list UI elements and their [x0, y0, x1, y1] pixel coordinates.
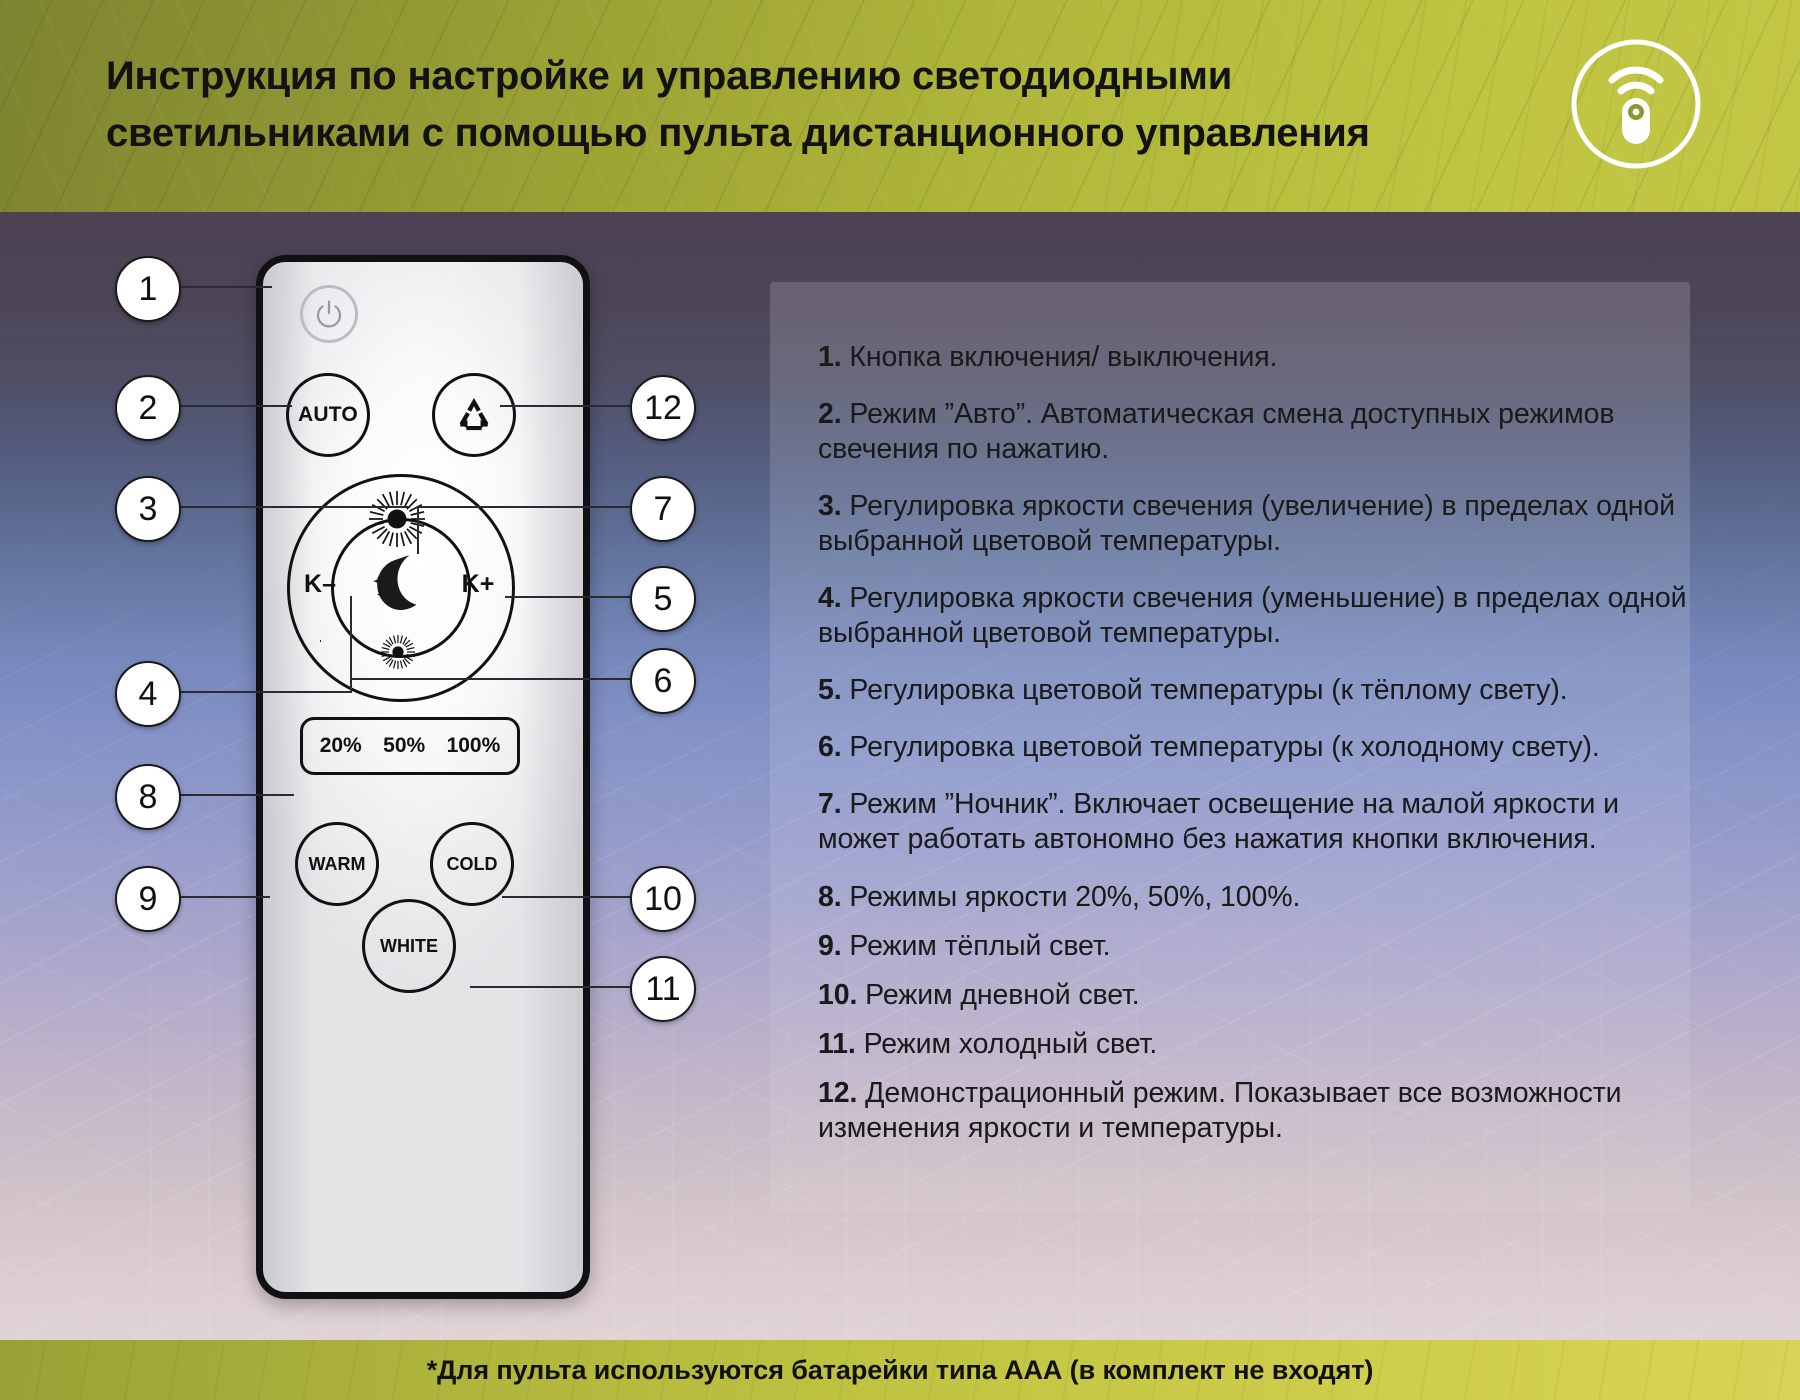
leader-line-7-vert	[417, 506, 419, 554]
recycle-loop-icon	[449, 390, 499, 440]
legend-item-5: 5. Регулировка цветовой температуры (к т…	[818, 673, 1693, 708]
callout-3[interactable]: 3	[115, 476, 181, 542]
legend-num-1: 1.	[818, 341, 842, 373]
legend-item-11: 11. Режим холодный свет.	[818, 1027, 1693, 1062]
callout-5-label: 5	[654, 580, 673, 619]
legend-item-8: 8. Режимы яркости 20%, 50%, 100%.	[818, 880, 1693, 915]
legend-num-9: 9.	[818, 930, 842, 962]
callout-1[interactable]: 1	[115, 256, 181, 322]
leader-line-12	[500, 405, 630, 407]
callout-9-label: 9	[139, 880, 158, 919]
callout-4[interactable]: 4	[115, 661, 181, 727]
brightness-down-button[interactable]	[378, 632, 418, 672]
sun-small-icon	[378, 632, 418, 672]
callout-12[interactable]: 12	[630, 375, 696, 441]
brightness-preset-50[interactable]: 50%	[383, 734, 425, 758]
callout-12-label: 12	[644, 389, 682, 428]
legend-item-6: 6. Регулировка цветовой температуры (к х…	[818, 730, 1693, 765]
page-header: Инструкция по настройке и управлению све…	[0, 0, 1800, 212]
legend-text-1: Кнопка включения/ выключения.	[849, 341, 1277, 373]
page-footer: *Для пульта используются батарейки типа …	[0, 1340, 1800, 1400]
legend-text-2: Режим ”Авто”. Автоматическая смена досту…	[818, 398, 1614, 465]
legend-text-3: Регулировка яркости свечения (увеличение…	[818, 490, 1675, 557]
legend-num-12: 12.	[818, 1077, 857, 1109]
callout-6[interactable]: 6	[630, 648, 696, 714]
kelvin-minus-label: K–	[304, 570, 336, 599]
callout-7[interactable]: 7	[630, 476, 696, 542]
night-mode-button[interactable]	[361, 544, 437, 620]
legend-num-7: 7.	[818, 788, 842, 820]
cold-light-button[interactable]: COLD	[430, 822, 514, 906]
legend-text-8: Режимы яркости 20%, 50%, 100%.	[849, 881, 1300, 913]
auto-button-label: AUTO	[298, 403, 358, 427]
kelvin-plus-label: K+	[462, 570, 495, 599]
remote-control-signal-icon	[1568, 36, 1704, 172]
legend-text-11: Режим холодный свет.	[864, 1028, 1158, 1060]
legend-text-12: Демонстрационный режим. Показывает все в…	[818, 1077, 1622, 1144]
auto-mode-button[interactable]: AUTO	[286, 373, 370, 457]
remote-control-body: AUTO	[256, 255, 590, 1299]
legend-item-7: 7. Режим ”Ночник”. Включает освещение на…	[818, 787, 1693, 857]
leader-line-7	[417, 506, 630, 508]
callout-6-label: 6	[654, 662, 673, 701]
brightness-preset-100[interactable]: 100%	[447, 734, 501, 758]
legend-num-4: 4.	[818, 582, 842, 614]
legend-item-1: 1. Кнопка включения/ выключения.	[818, 340, 1693, 375]
legend-item-2: 2. Режим ”Авто”. Автоматическая смена до…	[818, 397, 1693, 467]
legend-num-5: 5.	[818, 674, 842, 706]
legend-text-7: Режим ”Ночник”. Включает освещение на ма…	[818, 788, 1619, 855]
leader-line-6	[350, 678, 630, 680]
legend-num-8: 8.	[818, 881, 842, 913]
power-button[interactable]	[300, 285, 358, 343]
footer-note: *Для пульта используются батарейки типа …	[0, 1340, 1800, 1400]
legend-text-6: Регулировка цветовой температуры (к холо…	[849, 731, 1599, 763]
legend-list: 1. Кнопка включения/ выключения. 2. Режи…	[818, 340, 1693, 1168]
cold-button-label: COLD	[447, 854, 498, 875]
callout-1-label: 1	[139, 270, 158, 309]
kelvin-plus-button[interactable]: K+	[453, 562, 503, 606]
power-icon	[313, 298, 345, 330]
leader-line-10	[502, 896, 630, 898]
callout-10-label: 10	[644, 880, 682, 919]
legend-item-10: 10. Режим дневной свет.	[818, 978, 1693, 1013]
callout-9[interactable]: 9	[115, 866, 181, 932]
callout-2[interactable]: 2	[115, 375, 181, 441]
leader-line-5	[505, 596, 630, 598]
legend-num-10: 10.	[818, 979, 857, 1011]
infographic-page: Инструкция по настройке и управлению све…	[0, 0, 1800, 1400]
callout-5[interactable]: 5	[630, 566, 696, 632]
leader-line-4-diag	[320, 640, 321, 642]
legend-num-2: 2.	[818, 398, 842, 430]
callout-7-label: 7	[654, 490, 673, 529]
callout-8-label: 8	[139, 778, 158, 817]
leader-line-2	[162, 405, 292, 407]
legend-text-10: Режим дневной свет.	[865, 979, 1139, 1011]
white-button-label: WHITE	[380, 936, 438, 957]
callout-11-label: 11	[645, 970, 680, 1009]
leader-line-4	[162, 691, 352, 693]
leader-line-3	[162, 506, 410, 508]
legend-num-6: 6.	[818, 731, 842, 763]
legend-text-9: Режим тёплый свет.	[849, 930, 1110, 962]
warm-light-button[interactable]: WARM	[295, 822, 379, 906]
legend-text-5: Регулировка цветовой температуры (к тёпл…	[849, 674, 1567, 706]
legend-item-12: 12. Демонстрационный режим. Показывает в…	[818, 1076, 1693, 1146]
warm-button-label: WARM	[309, 854, 366, 875]
legend-num-3: 3.	[818, 490, 842, 522]
leader-line-11	[470, 986, 630, 988]
callout-3-label: 3	[139, 490, 158, 529]
moon-stars-icon	[361, 544, 437, 620]
legend-item-9: 9. Режим тёплый свет.	[818, 929, 1693, 964]
demo-mode-button[interactable]	[432, 373, 516, 457]
legend-item-3: 3. Регулировка яркости свечения (увеличе…	[818, 489, 1693, 559]
brightness-presets-bar[interactable]: 20% 50% 100%	[300, 717, 520, 775]
legend-text-4: Регулировка яркости свечения (уменьшение…	[818, 582, 1686, 649]
callout-11[interactable]: 11	[630, 956, 696, 1022]
callout-2-label: 2	[139, 389, 158, 428]
kelvin-minus-button[interactable]: K–	[295, 562, 345, 606]
callout-10[interactable]: 10	[630, 866, 696, 932]
page-title: Инструкция по настройке и управлению све…	[106, 48, 1526, 162]
legend-num-11: 11.	[818, 1028, 856, 1060]
callout-4-label: 4	[139, 675, 158, 714]
callout-8[interactable]: 8	[115, 764, 181, 830]
white-light-button[interactable]: WHITE	[362, 899, 456, 993]
brightness-preset-20[interactable]: 20%	[320, 734, 362, 758]
legend-item-4: 4. Регулировка яркости свечения (уменьше…	[818, 581, 1693, 651]
leader-line-8	[162, 794, 294, 796]
